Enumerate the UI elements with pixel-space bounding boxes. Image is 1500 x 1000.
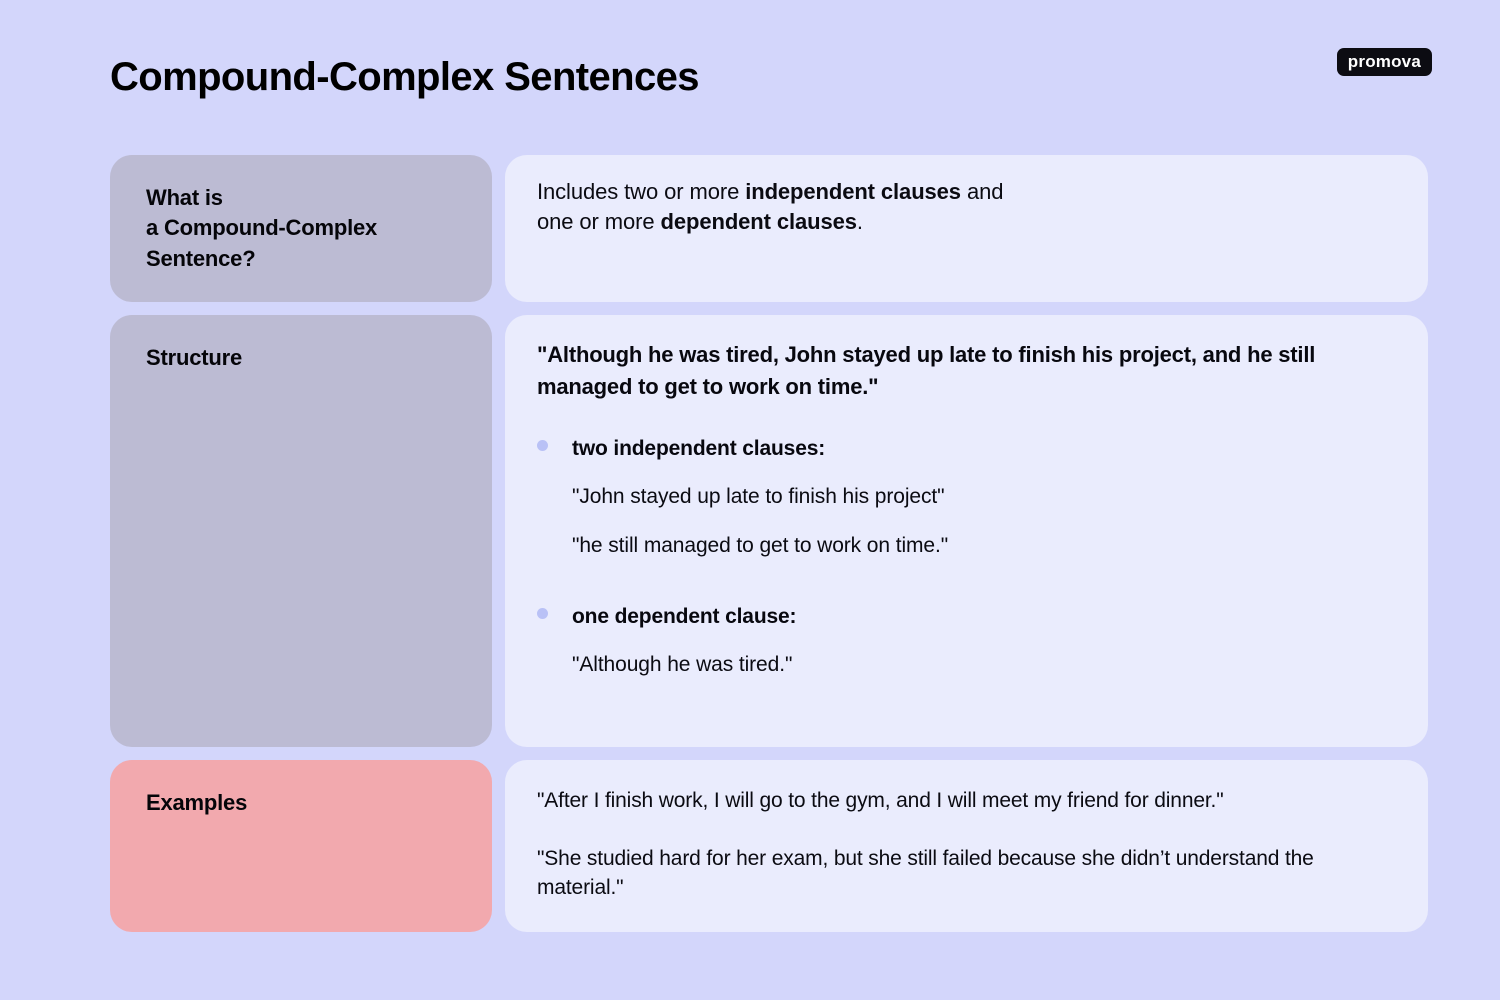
definition-part-4: . [857,209,863,234]
label-examples: Examples [146,788,492,818]
definition-bold-independent: independent clauses [745,179,961,204]
label-what-is: What is a Compound-Complex Sentence? [146,183,492,274]
content-cell-examples: "After I finish work, I will go to the g… [505,760,1428,932]
definition-part-3: one or more [537,209,661,234]
bullet-dot-icon [537,440,548,451]
row-what-is: What is a Compound-Complex Sentence? Inc… [110,155,1428,302]
label-cell-examples: Examples [110,760,492,932]
definition-bold-dependent: dependent clauses [661,209,857,234]
bullet-title-independent: two independent clauses: [572,437,825,461]
label-cell-what-is: What is a Compound-Complex Sentence? [110,155,492,302]
definition-part-1: Includes two or more [537,179,745,204]
label-structure: Structure [146,343,492,373]
definition-part-2: and [961,179,1003,204]
label-cell-structure: Structure [110,315,492,747]
bullet-group-independent: two independent clauses: "John stayed up… [537,437,1394,560]
definition-text: Includes two or more independent clauses… [537,177,1394,238]
content-grid: What is a Compound-Complex Sentence? Inc… [110,155,1428,932]
example-sentence-2: "She studied hard for her exam, but she … [537,845,1394,902]
bullet-head-independent: two independent clauses: [537,437,1394,461]
page-header: Compound-Complex Sentences promova [0,0,1500,150]
row-examples: Examples "After I finish work, I will go… [110,760,1428,932]
bullet-dot-icon [537,608,548,619]
row-structure: Structure "Although he was tired, John s… [110,315,1428,747]
example-sentence-1: "After I finish work, I will go to the g… [537,787,1394,815]
content-cell-structure: "Although he was tired, John stayed up l… [505,315,1428,747]
clause-independent-1: "John stayed up late to finish his proje… [572,483,1394,510]
bullet-title-dependent: one dependent clause: [572,605,796,629]
page-title: Compound-Complex Sentences [110,55,699,99]
bullet-group-dependent: one dependent clause: "Although he was t… [537,605,1394,678]
clause-dependent-1: "Although he was tired." [572,651,1394,678]
structure-example-sentence: "Although he was tired, John stayed up l… [537,339,1377,403]
promova-logo: promova [1337,48,1432,76]
content-cell-what-is: Includes two or more independent clauses… [505,155,1428,302]
bullet-head-dependent: one dependent clause: [537,605,1394,629]
clause-independent-2: "he still managed to get to work on time… [572,532,1394,559]
